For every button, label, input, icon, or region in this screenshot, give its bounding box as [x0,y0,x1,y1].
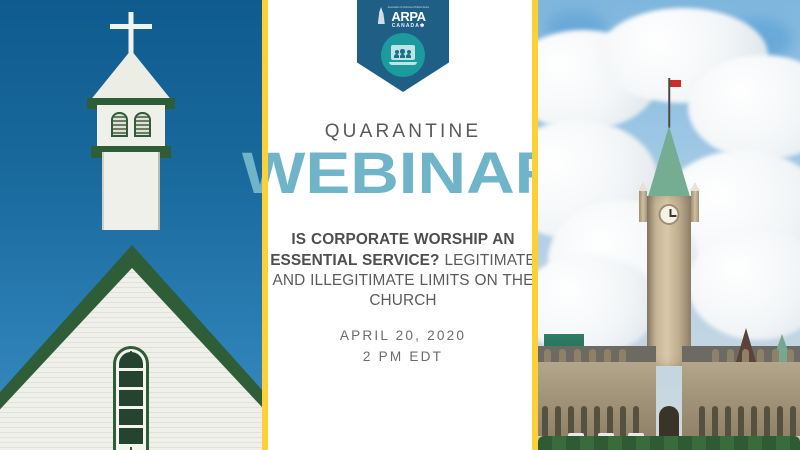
person-left [394,50,399,59]
window [581,406,587,436]
cross-crossbar [110,24,152,29]
window [712,406,718,436]
window [568,406,574,436]
peace-tower-copper-roof [647,126,691,200]
steeple-belfry [97,105,165,149]
tower-turret-right [691,190,699,222]
belfry-louver-left [111,112,128,137]
webinar-topic: IS CORPORATE WORSHIP AN ESSENTIAL SERVIC… [269,230,537,311]
window [699,406,705,436]
webinar-promo-poster: Association for Reformed Political Actio… [0,0,800,450]
window [738,406,744,436]
dormer [757,349,764,362]
people-group-icon [394,48,411,58]
arpa-logo-country: CANADA✽ [392,23,426,29]
page-title: WEBINAR [242,147,563,200]
church-photo [0,0,262,450]
window [555,406,561,436]
belfry-louver-right [134,112,151,137]
webinar-icon-circle [381,33,425,77]
arpa-logo-name: ARPA [391,10,425,23]
dormer [544,349,551,362]
window [633,406,639,436]
arpa-logo-country-text: CANADA [392,23,420,29]
window [607,406,613,436]
parliament-tower-icon [377,7,386,24]
dormer [742,349,749,362]
flagpole [668,78,670,128]
laptop-base [389,62,417,66]
window [594,406,600,436]
laptop-people-icon [389,45,417,65]
dormer [712,349,719,362]
window [764,406,770,436]
dormer-row-left [544,348,626,362]
event-date: APRIL 20, 2020 [340,325,466,346]
arpa-logo-text: Association for Reformed Political Actio… [388,7,429,29]
window [790,406,796,436]
window-panes [119,352,143,447]
dormer [619,349,626,362]
window [777,406,783,436]
event-datetime: APRIL 20, 2020 2 PM EDT [340,325,466,367]
dormer [604,349,611,362]
event-time: 2 PM EDT [340,346,466,367]
parliament-photo [538,0,800,450]
steeple-base [102,152,160,230]
arpa-logo-tagline: Association for Reformed Political Actio… [388,7,429,10]
dormer [589,349,596,362]
window-row-left [542,382,639,436]
maple-leaf-icon: ✽ [420,23,425,29]
person-center [400,49,405,58]
person-right [406,50,411,59]
dormer-row-right [712,348,794,362]
arpa-badge: Association for Reformed Political Actio… [357,0,449,92]
kicker-text: QUARANTINE [325,122,482,141]
treeline [538,436,800,450]
tower-turret-left [639,190,647,222]
window-row-right [699,382,796,436]
window [542,406,548,436]
clock-icon [659,204,680,225]
steeple-spire [89,50,173,102]
center-text-panel: Association for Reformed Political Actio… [262,0,538,450]
window [620,406,626,436]
gold-divider-left [262,0,268,450]
window [725,406,731,436]
gold-divider-right [532,0,538,450]
dormer [772,349,779,362]
dormer [787,349,794,362]
dormer [559,349,566,362]
dormer [574,349,581,362]
main-entrance-arch [659,406,679,440]
gothic-window [113,346,149,450]
canadian-flag-icon [670,80,681,87]
window [751,406,757,436]
arpa-logo: Association for Reformed Political Actio… [377,7,429,29]
dormer [727,349,734,362]
